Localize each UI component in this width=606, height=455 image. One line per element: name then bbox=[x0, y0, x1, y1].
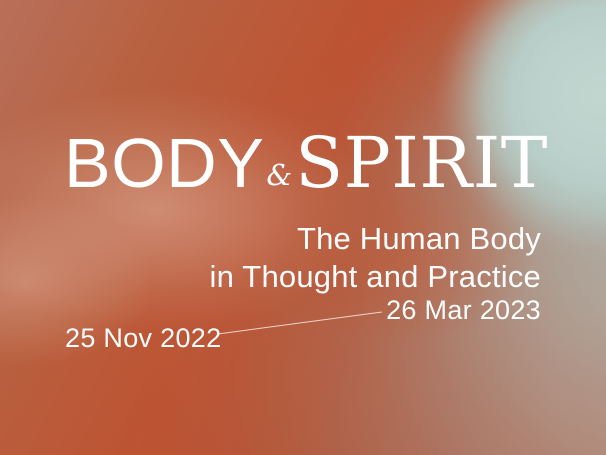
exhibition-start-date: 25 Nov 2022 bbox=[65, 322, 221, 354]
poster-content: BODY & SPIRIT The Human Body in Thought … bbox=[0, 0, 606, 455]
title-word-spirit: SPIRIT bbox=[295, 128, 548, 198]
poster-canvas: BODY & SPIRIT The Human Body in Thought … bbox=[0, 0, 606, 455]
subtitle-line-1: The Human Body bbox=[0, 220, 541, 258]
subtitle-line-2: in Thought and Practice bbox=[0, 258, 541, 296]
title-ampersand: & bbox=[264, 161, 295, 190]
title-word-body: BODY bbox=[64, 128, 264, 198]
date-range-connector-line bbox=[216, 306, 384, 338]
poster-title: BODY & SPIRIT bbox=[64, 128, 542, 204]
poster-subtitle: The Human Body in Thought and Practice bbox=[0, 220, 541, 296]
